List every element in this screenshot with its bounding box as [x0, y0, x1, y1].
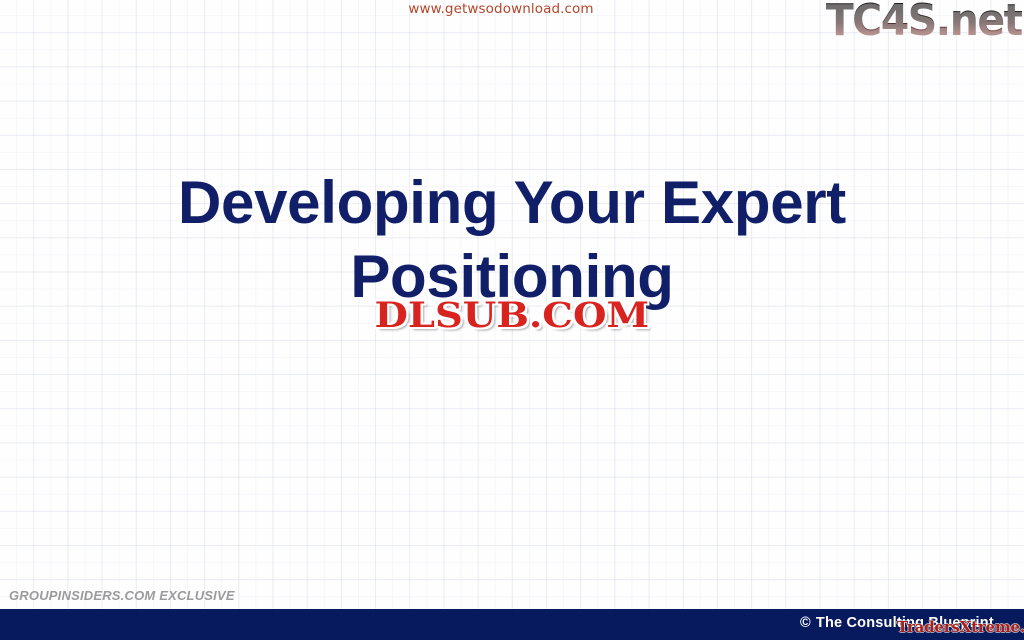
dlsub-watermark: DLSUB.COM [366, 293, 658, 337]
tc4s-brand-logo: TC4S.net [826, 0, 1022, 44]
exclusive-label: GROUPINSIDERS.COM EXCLUSIVE [9, 588, 235, 603]
dlsub-watermark-label: DLSUB.COM [375, 297, 650, 334]
footer-bar: ©The Consulting Blueprint [0, 609, 1024, 640]
copyright-icon: © [800, 615, 811, 631]
presentation-slide: www.getwsodownload.com TC4S.net Developi… [0, 0, 1024, 640]
tradersxtreme-watermark: TradersXtreme.com [897, 620, 1024, 635]
page-title: Developing Your Expert Positioning [0, 166, 1024, 314]
